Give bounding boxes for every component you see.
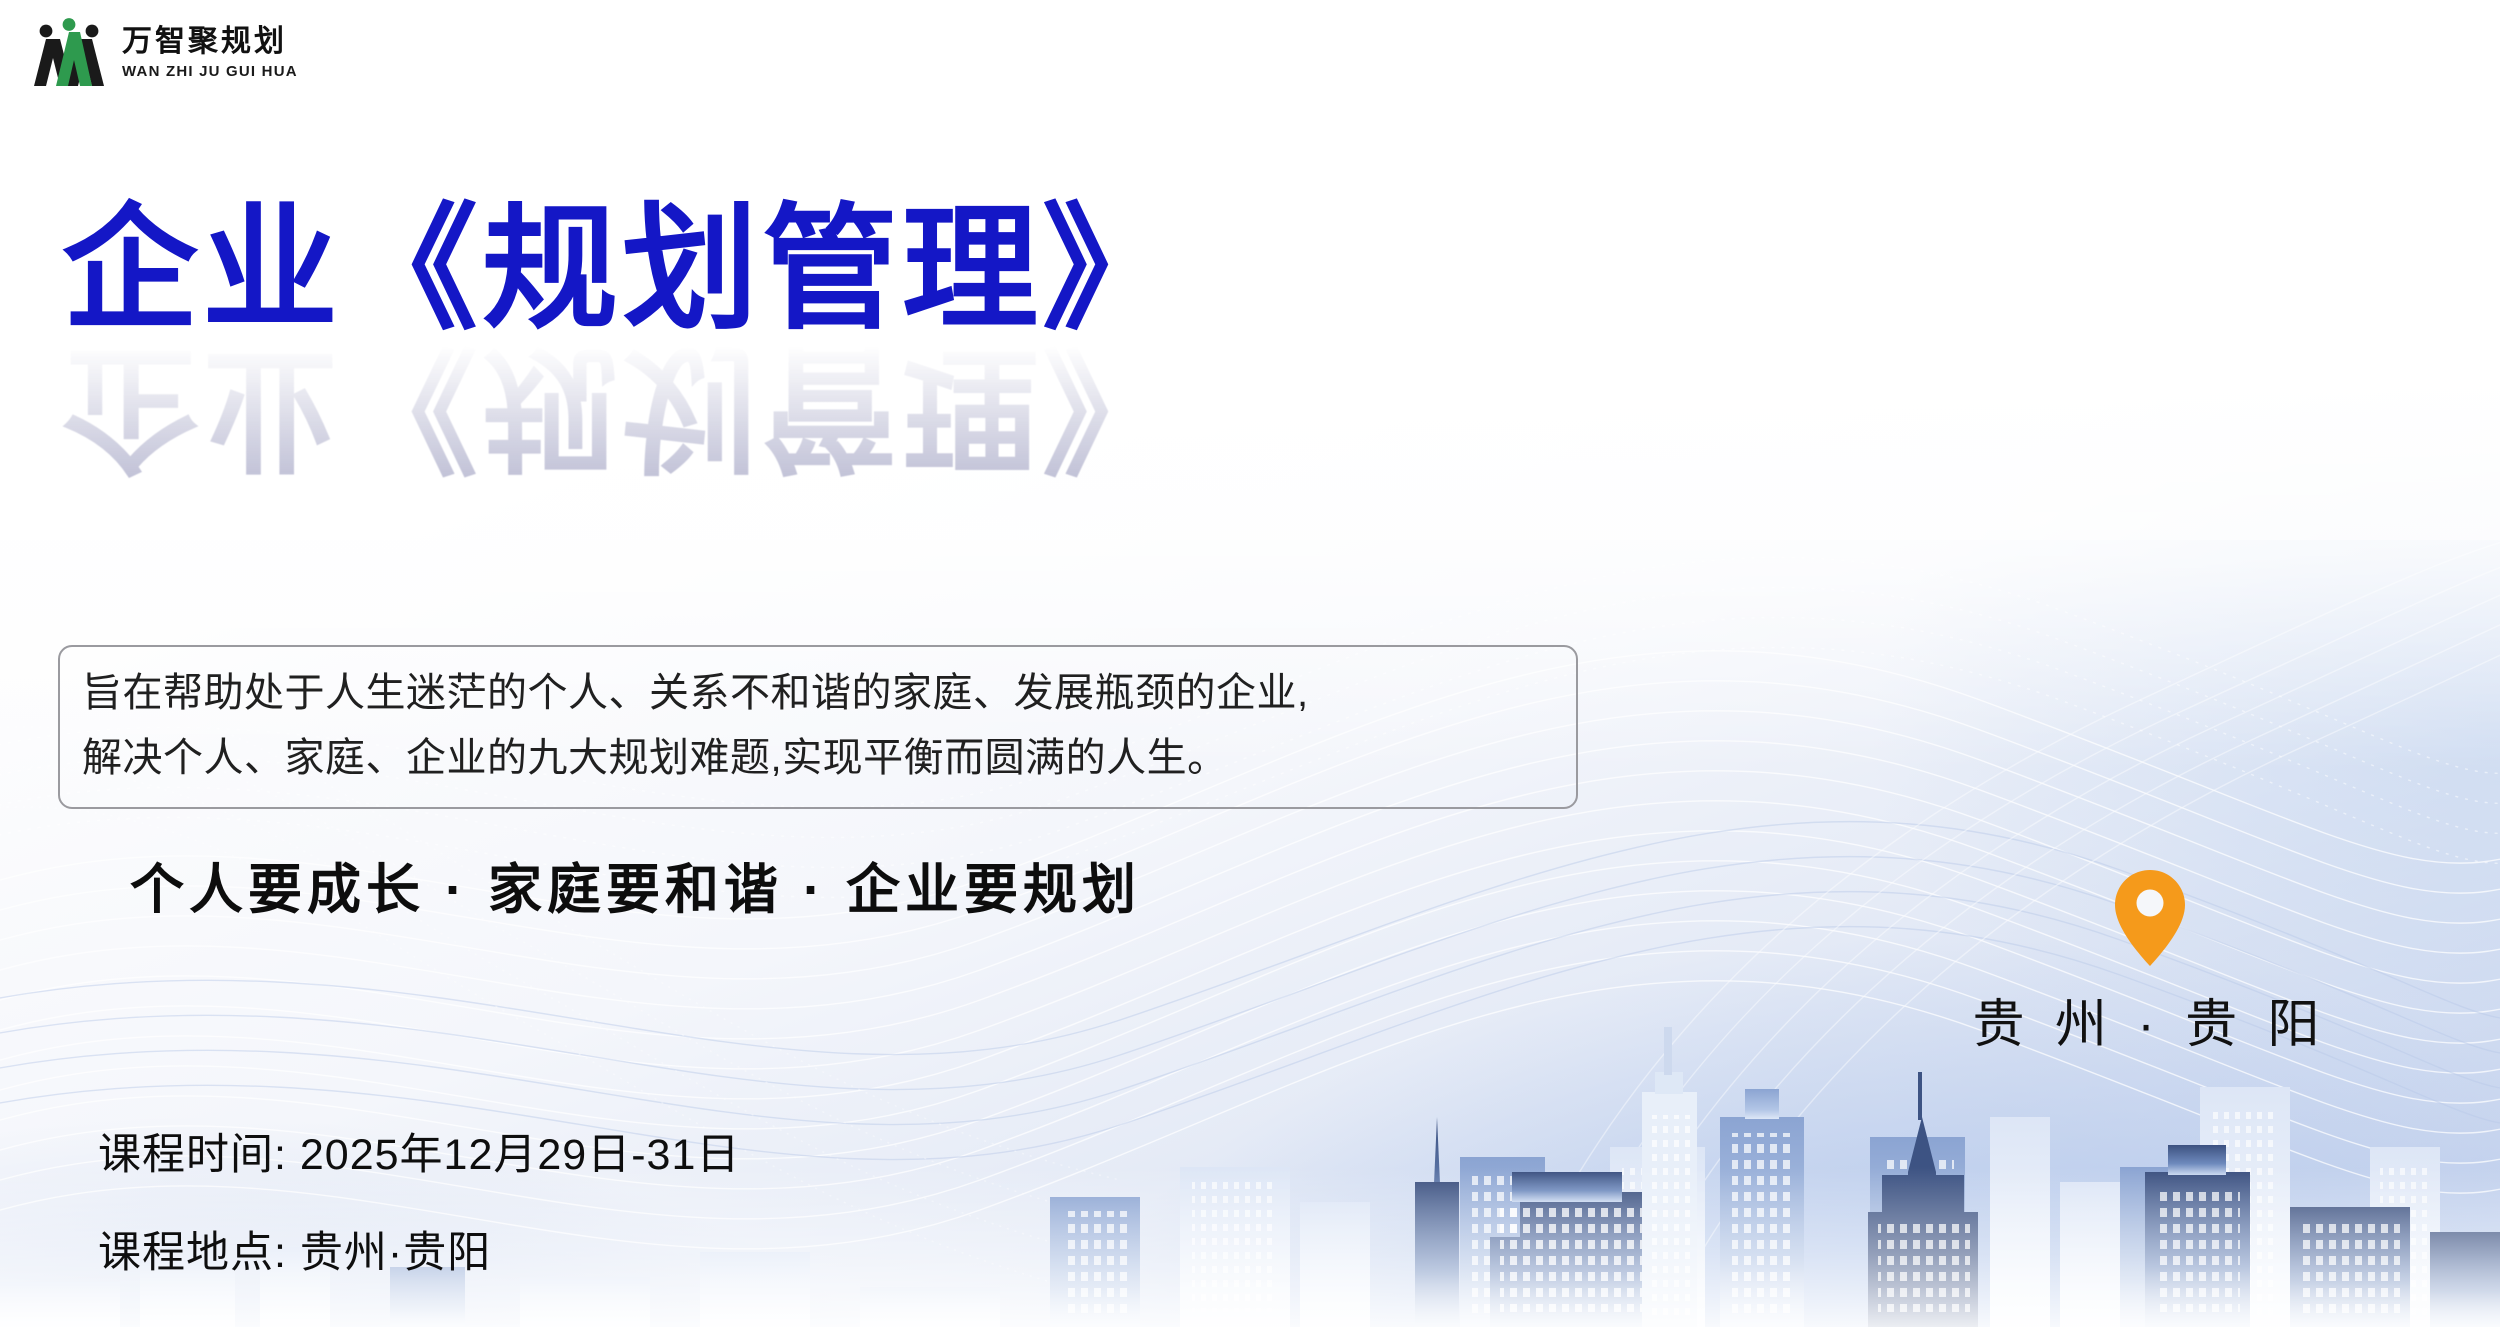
map-pin-icon (2111, 868, 2189, 968)
course-info: 课程时间: 2025年12月29日-31日 课程地点: 贵州·贵阳 (98, 1120, 740, 1280)
page-title: 企业《规划管理》 (62, 196, 1182, 343)
brand-name-pinyin: WAN ZHI JU GUI HUA (122, 64, 298, 79)
location-name: 贵 州 · 贵 阳 (1950, 982, 2350, 1057)
description-box: 旨在帮助处于人生迷茫的个人、关系不和谐的家庭、发展瓶颈的企业, 解决个人、家庭、… (58, 645, 1578, 809)
description-line-2: 解决个人、家庭、企业的九大规划难题,实现平衡而圆满的人生。 (82, 726, 1556, 791)
three-people-m-logo-icon (30, 18, 108, 88)
course-time: 课程时间: 2025年12月29日-31日 (98, 1120, 740, 1182)
description-line-1: 旨在帮助处于人生迷茫的个人、关系不和谐的家庭、发展瓶颈的企业, (82, 661, 1556, 726)
brand-logo[interactable]: 万智聚规划 WAN ZHI JU GUI HUA (30, 18, 298, 88)
tagline: 个人要成长 · 家庭要和谐 · 企业要规划 (130, 845, 1141, 924)
location-group: 贵 州 · 贵 阳 (1950, 868, 2350, 1057)
hero-title-block: 企业《规划管理》 企业《规划管理》 (62, 196, 1182, 480)
brand-text: 万智聚规划 WAN ZHI JU GUI HUA (122, 27, 298, 79)
course-place: 课程地点: 贵州·贵阳 (98, 1218, 740, 1280)
poster-canvas: 万智聚规划 WAN ZHI JU GUI HUA 企业《规划管理》 企业《规划管… (0, 0, 2500, 1327)
brand-name-cn: 万智聚规划 (122, 27, 298, 57)
page-title-reflection: 企业《规划管理》 (62, 333, 1182, 480)
